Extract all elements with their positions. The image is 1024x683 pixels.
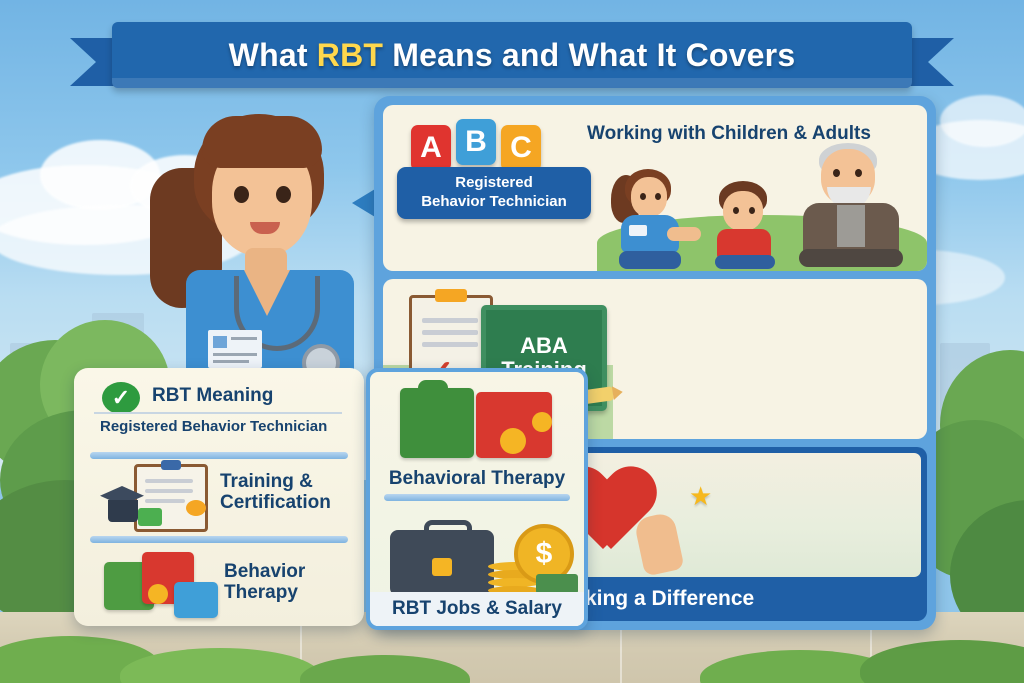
label-behavior-therapy: Behavior Therapy bbox=[224, 562, 354, 604]
label-registered-behavior-technician: Registered Behavior Technician bbox=[100, 418, 327, 435]
page-title: What RBT Means and What It Covers bbox=[229, 37, 796, 74]
ribbon-seal-icon bbox=[138, 508, 162, 526]
block-letter-c: C bbox=[501, 125, 541, 171]
eye-left bbox=[234, 186, 249, 203]
rbt-label-line2: Behavior Technician bbox=[409, 193, 579, 212]
rbt-label-box: Registered Behavior Technician bbox=[397, 167, 591, 219]
panel-registered-behavior-technician: A B C Registered Behavior Technician Wor… bbox=[383, 105, 927, 271]
divider bbox=[384, 494, 570, 501]
title-banner: What RBT Means and What It Covers bbox=[70, 22, 954, 92]
ribbon-body: What RBT Means and What It Covers bbox=[112, 22, 912, 88]
scene-child bbox=[709, 181, 781, 267]
puzzle-knob bbox=[500, 428, 526, 454]
caption-strip-jobs-salary: RBT Jobs & Salary bbox=[370, 592, 584, 626]
heading-working-with-children: Working with Children & Adults bbox=[587, 123, 871, 145]
title-highlight: RBT bbox=[317, 37, 383, 73]
row-training-certification: Training & Certification bbox=[94, 462, 350, 532]
aba-line1: ABA bbox=[520, 334, 568, 358]
caption-rbt-jobs-salary: RBT Jobs & Salary bbox=[392, 598, 562, 620]
block-letter-b: B bbox=[456, 119, 496, 165]
divider bbox=[90, 536, 348, 543]
main-therapist-illustration bbox=[150, 108, 370, 398]
title-part-2: Means and What It Covers bbox=[383, 37, 795, 73]
fringe bbox=[202, 116, 322, 168]
divider bbox=[90, 452, 348, 459]
block-letter-a: A bbox=[411, 125, 451, 171]
illustration-jobs-salary: $ bbox=[384, 506, 574, 596]
label-rbt-meaning: RBT Meaning bbox=[152, 386, 273, 407]
abc-blocks: A B C bbox=[411, 119, 541, 171]
caption-behavioral-therapy: Behavioral Therapy bbox=[370, 468, 584, 490]
label-training-certification: Training & Certification bbox=[220, 472, 360, 514]
puzzle-piece-blue bbox=[174, 582, 218, 618]
gold-star-icon: ★ bbox=[689, 481, 712, 512]
scene-therapist bbox=[611, 169, 689, 265]
row-rbt-meaning: ✓ RBT Meaning Registered Behavior Techni… bbox=[94, 380, 344, 442]
id-badge bbox=[208, 330, 262, 368]
hand-right bbox=[633, 511, 684, 576]
group-scene-illustration bbox=[597, 131, 927, 271]
scene-elderly-man bbox=[793, 143, 909, 269]
illustration-puzzle-therapy bbox=[390, 380, 570, 464]
green-check-icon: ✓ bbox=[102, 382, 140, 414]
rbt-label-line1: Registered bbox=[409, 174, 579, 193]
left-info-card: ✓ RBT Meaning Registered Behavior Techni… bbox=[74, 368, 364, 626]
infographic-canvas: What RBT Means and What It Covers bbox=[0, 0, 1024, 683]
row-behavior-therapy: Behavior Therapy bbox=[94, 548, 350, 620]
cash-stack-icon bbox=[536, 574, 578, 594]
middle-info-card: Behavioral Therapy $ RBT Jobs & Salary bbox=[366, 368, 588, 630]
cloud bbox=[940, 95, 1024, 147]
puzzle-knob bbox=[532, 412, 552, 432]
gold-seal-icon bbox=[186, 500, 206, 516]
title-part-1: What bbox=[229, 37, 317, 73]
eye-right bbox=[276, 186, 291, 203]
puzzle-knob bbox=[148, 584, 168, 604]
